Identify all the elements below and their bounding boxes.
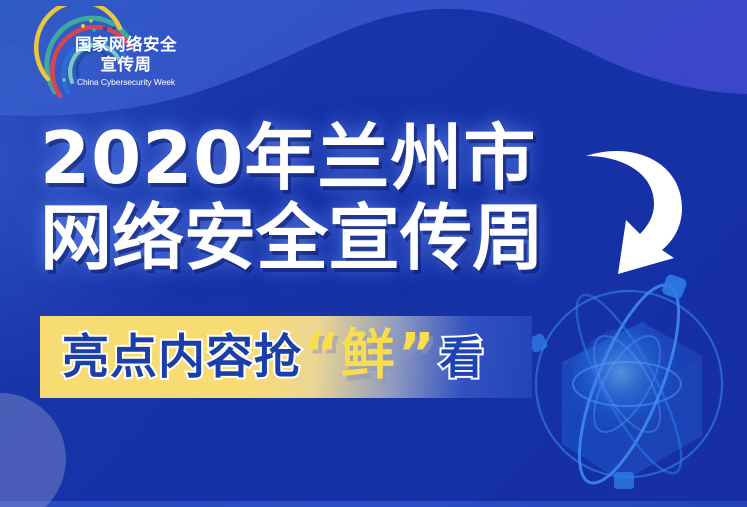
banner-highlight-char: 鲜 <box>341 329 395 381</box>
main-title: 2020年兰州市 网络安全宣传周 <box>40 118 620 278</box>
title-line-1: 2020年兰州市 <box>40 118 620 198</box>
title-line-2: 网络安全宣传周 <box>40 198 620 278</box>
curved-arrow-icon <box>578 134 702 274</box>
logo: 国家网络安全 宣传周 China Cybersecurity Week <box>8 6 193 106</box>
banner-text: 亮点内容抢 “ 鲜 ” 看 <box>62 329 484 385</box>
banner-quote-close: ” <box>398 329 433 381</box>
banner-segment-b: 看 <box>440 333 484 385</box>
logo-swoosh-icon <box>8 6 193 106</box>
poster-canvas: 国家网络安全 宣传周 China Cybersecurity Week 2020… <box>0 0 747 507</box>
highlight-banner: 亮点内容抢 “ 鲜 ” 看 <box>40 316 532 398</box>
banner-quote-open: “ <box>303 329 338 381</box>
banner-segment-a: 亮点内容抢 <box>62 332 302 384</box>
